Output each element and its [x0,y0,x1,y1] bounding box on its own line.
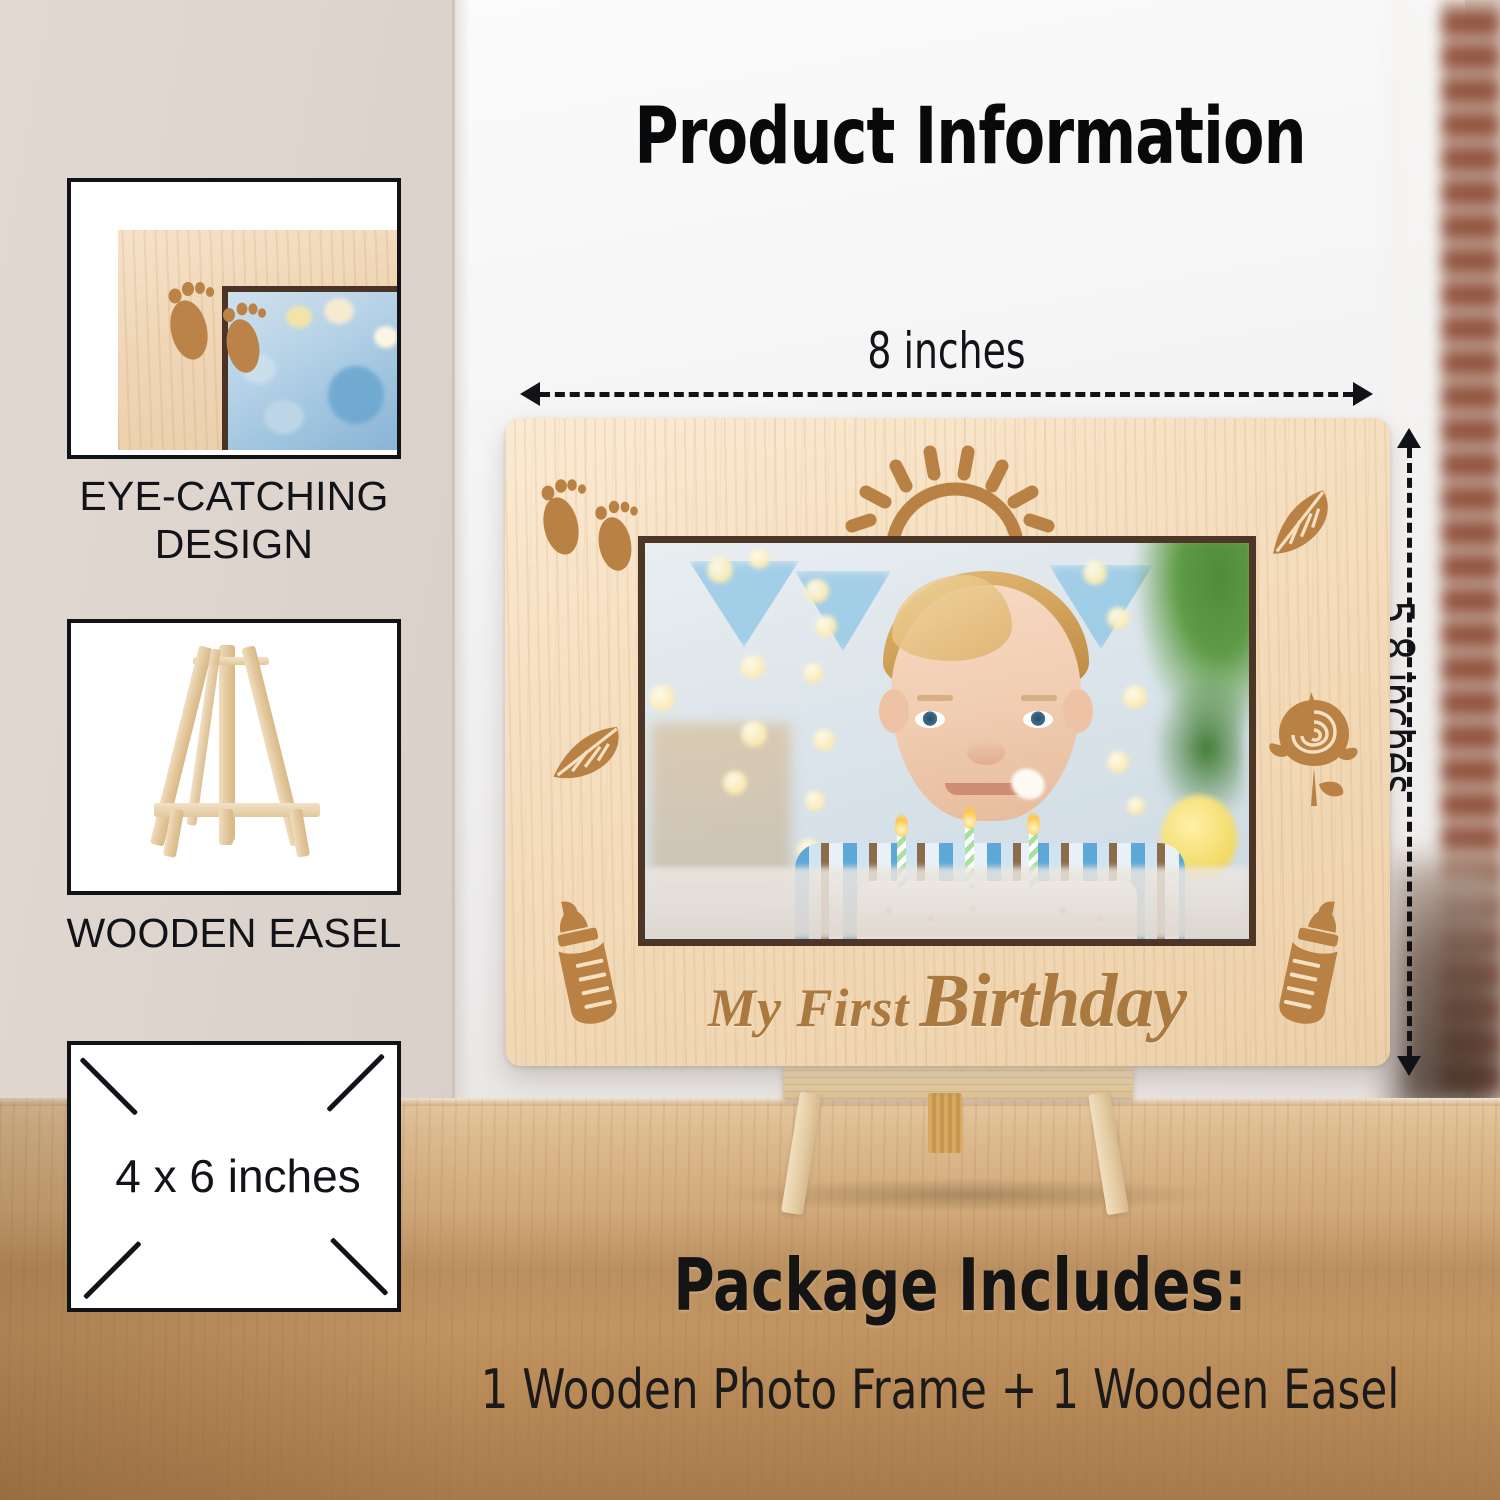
photo-child-nose [967,739,1005,765]
photo-child-eye-left [915,711,945,728]
feature-caption-line-1: EYE-CATCHING [44,472,424,520]
photo-size-label: 4 x 6 inches [71,1149,401,1203]
wooden-photo-frame: My FirstBirthday [505,418,1390,1066]
baby-footprints-icon [527,468,655,588]
dimension-dashed-line [540,392,1353,397]
feature-panel-wooden-easel [67,619,401,895]
feature-panel-eye-catching-design [67,178,401,459]
height-dimension-arrow [1407,432,1411,1072]
frame-photo-opening [638,536,1256,946]
width-dimension-label: 8 inches [592,322,1302,380]
photo-child-eye-right [1023,711,1053,728]
photo-child-ear-right [1063,689,1093,733]
package-contents-text: 1 Wooden Photo Frame + 1 Wooden Easel [436,1358,1444,1421]
leaf-icon [1256,479,1357,564]
easel-back-leg [928,1093,962,1153]
feature-caption-line-1: WOODEN EASEL [44,909,424,957]
feature-caption-wooden-easel: WOODEN EASEL [44,909,424,957]
width-dimension-arrow [524,392,1369,396]
corner-line-bottom-right [330,1237,389,1296]
package-includes-heading: Package Includes: [490,1243,1430,1327]
baby-bottle-icon [530,888,641,1033]
infographic-canvas: Product Information [0,0,1500,1500]
corner-line-bottom-left [83,1241,142,1300]
rose-icon [1265,690,1363,806]
leaf-icon [542,710,646,798]
feature-panel-photo-size: 4 x 6 inches [67,1041,401,1312]
dimension-dashed-line [1407,448,1412,1056]
candle-flame [963,805,976,829]
frame-engraved-caption: My FirstBirthday [638,958,1256,1045]
candle-flame [1027,811,1040,835]
page-title: Product Information [540,92,1400,182]
arrow-head-left [520,382,540,406]
feature-caption-line-2: DESIGN [44,520,424,568]
corner-line-top-right [326,1053,385,1112]
baby-footprints-icon [155,270,285,390]
candle-flame [895,813,908,837]
arrow-head-right [1353,382,1373,406]
feature-caption-eye-catching-design: EYE-CATCHING DESIGN [44,472,424,568]
corner-line-top-left [79,1057,138,1116]
photo-child-ear-left [879,689,909,733]
arrow-head-down [1397,1056,1421,1076]
arrow-head-up [1397,428,1421,448]
photo-foreground-table [645,867,1249,939]
baby-bottle-icon [1254,888,1365,1033]
caption-birthday: Birthday [920,959,1187,1043]
caption-my-first: My First [708,978,910,1038]
wall-corner-seam [452,0,470,1103]
